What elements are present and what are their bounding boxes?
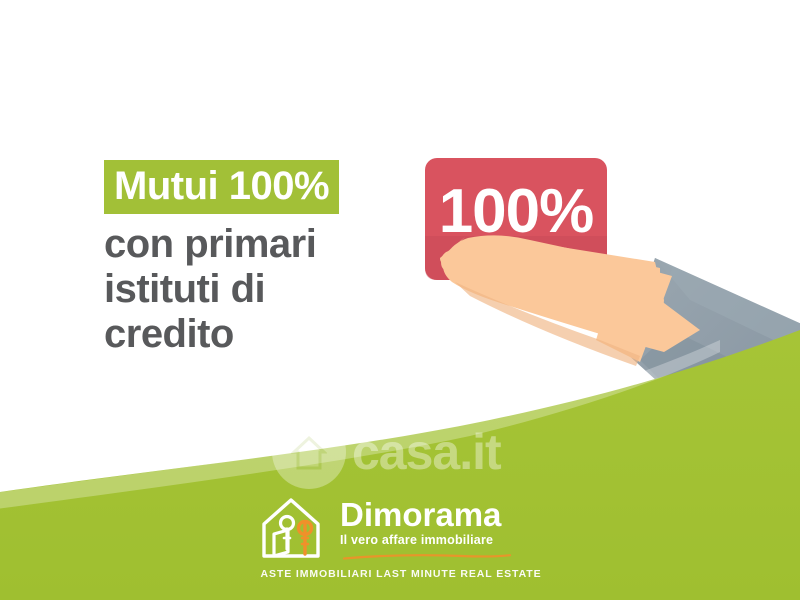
logo-row: Dimorama Il vero affare immobiliare bbox=[258, 494, 548, 565]
badge-value-text: 100% bbox=[439, 177, 594, 246]
logo-tagline: Il vero affare immobiliare bbox=[340, 534, 512, 547]
logo-swoosh-icon bbox=[342, 553, 512, 560]
headline-block: Mutui 100% con primari istituti di credi… bbox=[104, 160, 434, 356]
promo-banner: 100% bbox=[0, 0, 800, 600]
logo-name: Dimorama bbox=[340, 498, 512, 531]
headline-line-2: istituti di bbox=[104, 267, 434, 312]
headline-line-1: con primari bbox=[104, 222, 434, 267]
headline-line-3: credito bbox=[104, 312, 434, 357]
logo-wordmark: Dimorama Il vero affare immobiliare bbox=[340, 494, 512, 565]
logo-footer-text: ASTE IMMOBILIARI LAST MINUTE REAL ESTATE bbox=[254, 568, 548, 580]
dimorama-logo[interactable]: Dimorama Il vero affare immobiliare ASTE… bbox=[258, 494, 548, 580]
headline-lines: con primari istituti di credito bbox=[104, 222, 434, 356]
house-outline-icon bbox=[258, 494, 330, 562]
headline-highlight: Mutui 100% bbox=[104, 160, 339, 214]
